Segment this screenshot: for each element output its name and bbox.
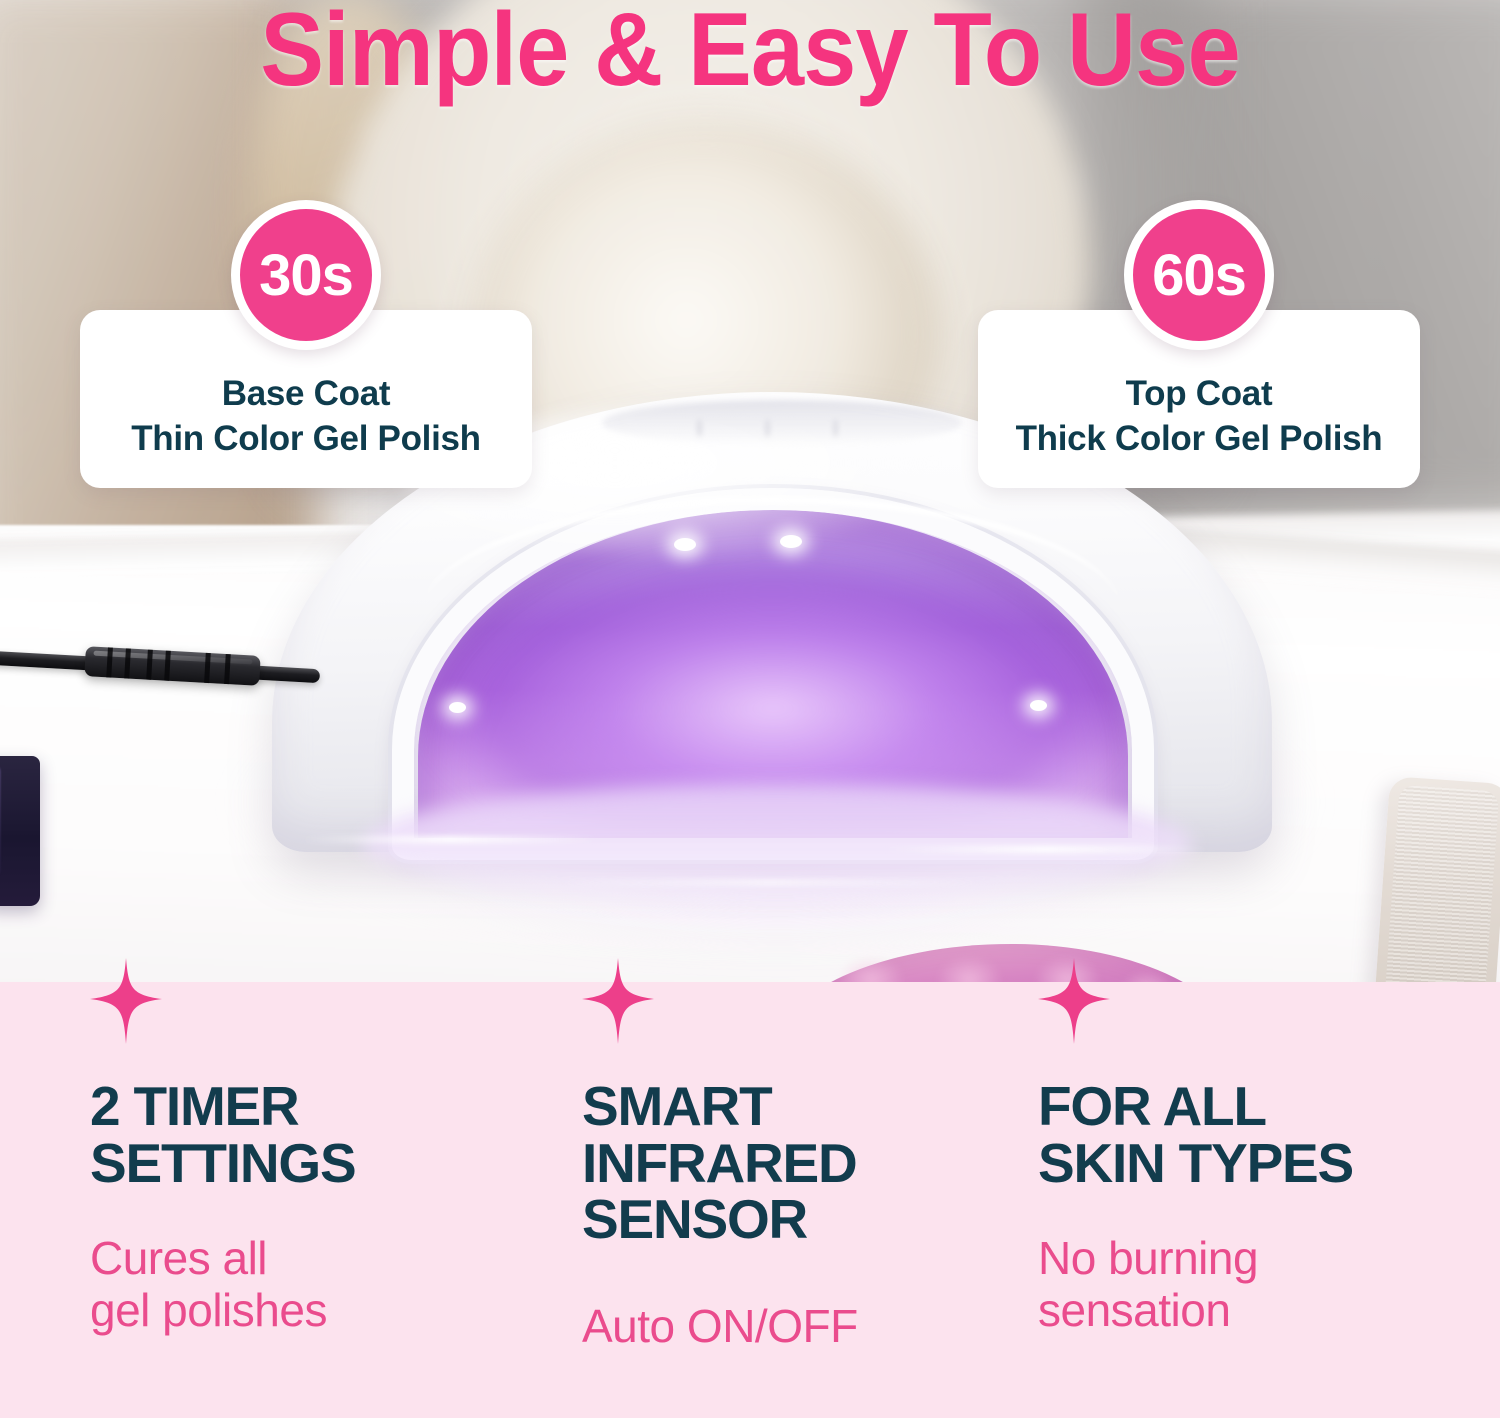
- page-title: Simple & Easy To Use: [60, 0, 1440, 105]
- feature-heading: SMART INFRARED SENSOR: [582, 1078, 1002, 1248]
- feature-heading: 2 TIMER SETTINGS: [90, 1078, 490, 1191]
- feature-subtext: No burning sensation: [1038, 1232, 1458, 1337]
- table-highlight: [300, 836, 600, 843]
- features-band: 2 TIMER SETTINGS Cures all gel polishes …: [0, 982, 1500, 1418]
- product-photo: [0, 0, 1500, 982]
- timer-badge-icon: 30s: [231, 200, 381, 350]
- led-light: [780, 535, 802, 548]
- infographic-root: Simple & Easy To Use Base Coat Thin Colo…: [0, 0, 1500, 1418]
- feature-subtext: Cures all gel polishes: [90, 1232, 490, 1337]
- lamp-floor-glow: [362, 784, 1192, 904]
- lamp-top-seam: [602, 400, 962, 446]
- callout-line-1: Base Coat: [98, 372, 514, 417]
- sparkle-star-icon: [582, 958, 654, 1044]
- led-light: [449, 702, 466, 713]
- sparkle-star-icon: [90, 958, 162, 1044]
- timer-badge-icon: 60s: [1124, 200, 1274, 350]
- feature-heading: FOR ALL SKIN TYPES: [1038, 1078, 1458, 1191]
- table-highlight: [560, 880, 980, 885]
- led-light: [674, 538, 696, 551]
- polish-bottle: [0, 756, 40, 906]
- callout-line-1: Top Coat: [996, 372, 1402, 417]
- hand-in-lamp: [712, 944, 1292, 982]
- nail-file: [1374, 776, 1500, 982]
- callout-line-2: Thin Color Gel Polish: [98, 417, 514, 462]
- table-highlight: [880, 846, 1210, 853]
- led-light: [1030, 700, 1047, 711]
- callout-line-2: Thick Color Gel Polish: [996, 417, 1402, 462]
- sparkle-star-icon: [1038, 958, 1110, 1044]
- feature-subtext: Auto ON/OFF: [582, 1300, 1002, 1352]
